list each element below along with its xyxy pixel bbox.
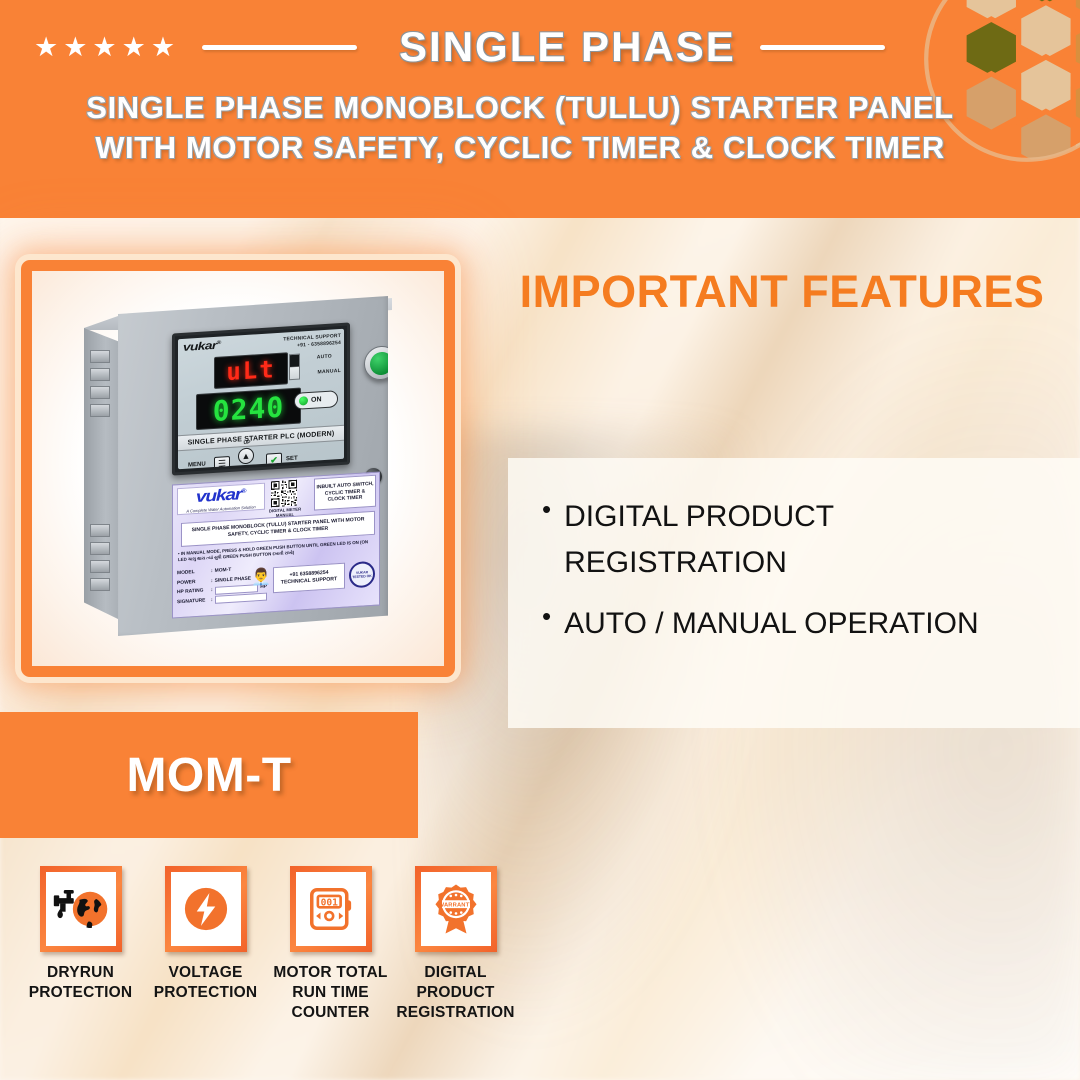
red-push-button[interactable] — [406, 339, 440, 375]
auto-manual-selector[interactable] — [289, 354, 300, 381]
sticker-brand-logo: vukar® — [196, 485, 245, 506]
field-label: SIGNATURE — [177, 598, 209, 605]
up-button[interactable]: ▲ — [238, 447, 254, 464]
field-separator: : — [211, 588, 213, 593]
tap-globe-icon — [52, 880, 110, 938]
signature-input[interactable] — [215, 593, 267, 604]
sticker-logo-box: vukar® A Complete Water Automation Solut… — [177, 483, 265, 516]
icon-caption: DIGITAL PRODUCT REGISTRATION — [393, 963, 518, 1023]
on-led-label: ON — [311, 396, 322, 404]
feature-icon-strip: DRYRUN PROTECTION VOLTAGE PROTECTION 001 — [18, 866, 538, 1056]
hinge-icon — [90, 560, 110, 573]
warranty-badge-icon: WARRANTY — [428, 881, 484, 937]
hinge-icon — [90, 578, 110, 591]
icon-tile-inner — [46, 872, 116, 946]
plc-faceplate: vukar® TECHNICAL SUPPORT +91 - 635889625… — [178, 329, 344, 469]
qr-code-icon — [271, 480, 297, 508]
hinge-icon — [90, 350, 110, 363]
icon-tile-inner: WARRANTY — [421, 872, 491, 946]
icon-tile — [165, 866, 247, 952]
bullet-icon: • — [542, 494, 551, 525]
bolt-circle-icon — [179, 882, 233, 936]
plc-support-text: TECHNICAL SUPPORT +91 - 6358896254 — [283, 333, 341, 350]
green-push-button[interactable] — [364, 345, 398, 381]
model-banner: MOM-T — [0, 712, 418, 838]
icon-caption: VOLTAGE PROTECTION — [143, 963, 268, 1003]
product-label-sticker: vukar® A Complete Water Automation Solut… — [172, 471, 380, 618]
icon-caption: DRYRUN PROTECTION — [18, 963, 143, 1003]
feature-text: AUTO / MANUAL OPERATION — [564, 601, 979, 647]
up-key-label: UP — [238, 439, 256, 446]
divider-rule-right — [760, 45, 885, 50]
hinge-icon — [90, 404, 110, 417]
manual-mode-label: MANUAL — [318, 368, 341, 375]
tested-ok-seal-icon: VUKAR TESTED OK — [349, 561, 375, 589]
product-image-frame: vukar® TECHNICAL SUPPORT +91 - 635889625… — [21, 260, 455, 677]
support-agent-icon: 👨‍💼 — [251, 569, 271, 586]
features-heading: IMPORTANT FEATURES — [512, 262, 1052, 321]
hinge-icon — [90, 386, 110, 399]
plc-controller: vukar® TECHNICAL SUPPORT +91 - 635889625… — [172, 322, 350, 475]
enclosure-left-side — [84, 328, 120, 620]
header-banner: ★★★★★ SINGLE PHASE SINGLE PHASE MONOBLOC… — [0, 0, 1080, 218]
header-top-row: ★★★★★ SINGLE PHASE — [0, 22, 1080, 72]
sticker-support-box: +91 6358896254 TECHNICAL SUPPORT — [273, 563, 345, 594]
bullet-icon: • — [542, 601, 551, 632]
hinge-icon — [90, 368, 110, 381]
header-kicker: SINGLE PHASE — [399, 23, 736, 71]
set-button[interactable]: ✔ — [266, 453, 282, 468]
features-panel: • DIGITAL PRODUCT REGISTRATION • AUTO / … — [508, 458, 1080, 728]
product-photo: vukar® TECHNICAL SUPPORT +91 - 635889625… — [32, 271, 444, 666]
on-status-indicator: ON — [294, 390, 338, 410]
menu-button[interactable]: ☰ — [214, 456, 230, 469]
plc-display-top: uLt — [214, 352, 288, 389]
feature-icon-dryrun: DRYRUN PROTECTION — [18, 866, 143, 1003]
field-separator: : — [211, 569, 213, 574]
star-rating-icon: ★★★★★ — [34, 34, 180, 61]
red-button-cap — [412, 345, 435, 369]
meter-counter-icon: 001 — [303, 881, 359, 937]
field-label: HP RATING — [177, 588, 209, 595]
features-list: • DIGITAL PRODUCT REGISTRATION • AUTO / … — [508, 458, 1080, 647]
header-headline: SINGLE PHASE MONOBLOCK (TULLU) STARTER P… — [60, 88, 980, 169]
field-separator: : — [211, 579, 213, 584]
sticker-inbuilt-box: INBUILT AUTO SWITCH, CYCLIC TIMER & CLOC… — [314, 475, 376, 511]
down-button[interactable]: ▼ — [238, 464, 254, 469]
icon-tile: 001 — [290, 866, 372, 952]
auto-mode-label: AUTO — [317, 354, 332, 361]
plc-display-bottom: 0240 — [196, 387, 301, 430]
field-label: MODEL — [177, 569, 209, 576]
icon-tile-inner — [171, 872, 241, 946]
feature-icon-registration: WARRANTY DIGITAL PRODUCT REGISTRATION — [393, 866, 518, 1023]
green-button-cap — [370, 351, 393, 375]
icon-tile: WARRANTY — [415, 866, 497, 952]
hinge-icon — [90, 542, 110, 555]
control-panel-enclosure: vukar® TECHNICAL SUPPORT +91 - 635889625… — [84, 296, 404, 648]
hinge-icon — [90, 524, 110, 537]
list-item: • AUTO / MANUAL OPERATION — [542, 601, 1054, 647]
plc-brand-logo: vukar® — [183, 340, 221, 354]
enclosure-front-door: vukar® TECHNICAL SUPPORT +91 - 635889625… — [118, 296, 388, 636]
on-led-dot — [299, 396, 308, 406]
field-label: POWER — [177, 579, 209, 586]
field-separator: : — [211, 598, 213, 603]
model-name: MOM-T — [126, 748, 291, 803]
warranty-label: WARRANTY — [438, 903, 473, 909]
feature-text: DIGITAL PRODUCT REGISTRATION — [564, 494, 1054, 585]
feature-icon-voltage: VOLTAGE PROTECTION — [143, 866, 268, 1003]
divider-rule-left — [202, 45, 357, 50]
menu-key-label: MENU — [188, 461, 206, 468]
icon-caption: MOTOR TOTAL RUN TIME COUNTER — [268, 963, 393, 1023]
list-item: • DIGITAL PRODUCT REGISTRATION — [542, 494, 1054, 585]
feature-icon-runtime: 001 MOTOR TOTAL RUN TIME COUNTER — [268, 866, 393, 1023]
icon-tile — [40, 866, 122, 952]
icon-tile-inner: 001 — [296, 872, 366, 946]
counter-display: 001 — [320, 898, 338, 909]
set-key-label: SET — [286, 456, 298, 463]
